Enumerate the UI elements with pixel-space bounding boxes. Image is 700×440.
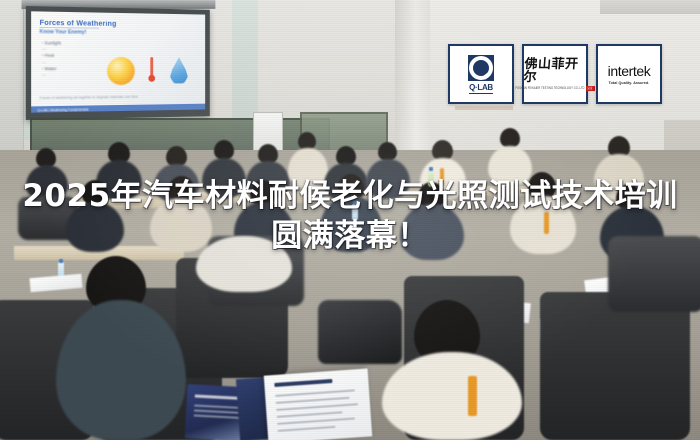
logo-q-lab: Q·LAB	[448, 44, 514, 104]
intertek-tagline: Total Quality. Assured.	[609, 81, 650, 85]
logo-foshan-feikaier: 佛山菲开尔 FOSHAN FEIKAIER TESTING TECHNOLOGY…	[522, 44, 588, 104]
office-chair	[540, 292, 690, 440]
event-banner: Forces of Weathering Know Your Enemy! • …	[0, 0, 700, 440]
backpack	[318, 300, 402, 364]
attendee-body	[382, 352, 522, 440]
foshan-subtext: FOSHAN FEIKAIER TESTING TECHNOLOGY CO.,L…	[516, 86, 585, 90]
headline-line-1: 2025年汽车材料耐候老化与光照测试技术培训	[0, 176, 700, 216]
attendee-head	[500, 128, 520, 148]
logo-bar: Q·LAB 佛山菲开尔 FOSHAN FEIKAIER TESTING TECH…	[448, 44, 662, 104]
red-seal-icon: 认证	[586, 86, 595, 91]
handout	[29, 274, 82, 292]
chinese-calligraphy-icon: 佛山菲开尔	[523, 58, 587, 84]
headline-line-2: 圆满落幕！	[0, 216, 700, 256]
q-lab-wordmark: Q·LAB	[469, 83, 493, 94]
handout-open	[264, 368, 372, 440]
q-lab-mark-icon	[468, 55, 494, 81]
lanyard	[468, 376, 477, 416]
logo-intertek: intertek Total Quality. Assured.	[596, 44, 662, 104]
attendee-head	[214, 140, 234, 160]
headline: 2025年汽车材料耐候老化与光照测试技术培训 圆满落幕！	[0, 176, 700, 256]
intertek-wordmark-icon: intertek	[608, 64, 651, 78]
